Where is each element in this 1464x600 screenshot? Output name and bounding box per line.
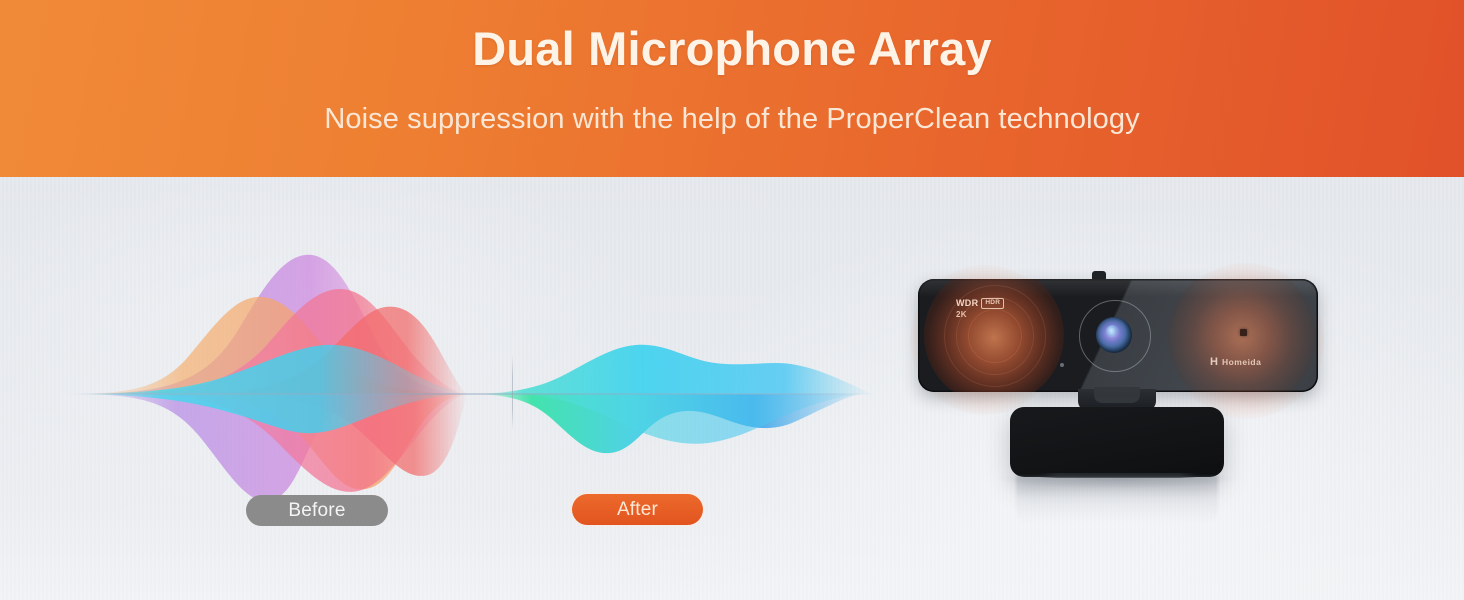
page-subtitle: Noise suppression with the help of the P… — [0, 101, 1464, 139]
camera-reflection — [1016, 476, 1218, 524]
webcam-product-image: WDR HDR 2K H Homeida — [880, 257, 1350, 597]
waveform-axis — [68, 393, 874, 395]
camera-hinge-cap — [1094, 387, 1140, 403]
camera-body: WDR HDR 2K H Homeida — [918, 279, 1318, 392]
resolution-label: 2K — [956, 310, 967, 319]
wdr-badge: WDR HDR — [956, 298, 1004, 309]
camera-base-clip — [1010, 407, 1224, 477]
mic-ring-3 — [968, 309, 1022, 363]
before-after-divider — [512, 355, 513, 430]
waveform-before — [72, 255, 468, 501]
after-label-pill: After — [572, 494, 703, 525]
waveform-after — [476, 345, 872, 453]
header-banner: Dual Microphone Array Noise suppression … — [0, 0, 1464, 177]
before-label-pill: Before — [246, 495, 388, 526]
right-mic-pinhole-icon — [1240, 329, 1247, 336]
waveform-illustration — [40, 197, 900, 557]
brand-mark-icon: H — [1210, 357, 1218, 368]
brand-name-label: Homeida — [1222, 358, 1261, 367]
promo-banner-page: Dual Microphone Array Noise suppression … — [0, 0, 1464, 600]
wdr-chip-label: HDR — [981, 298, 1004, 309]
waveform-svg — [40, 197, 900, 557]
page-title: Dual Microphone Array — [0, 22, 1464, 76]
wdr-label: WDR — [956, 298, 978, 308]
status-led-icon — [1060, 363, 1064, 367]
lens-flare — [1106, 325, 1119, 338]
content-stage: Before After WDR HDR 2K — [0, 177, 1464, 600]
brand-logo: H Homeida — [1210, 357, 1261, 368]
